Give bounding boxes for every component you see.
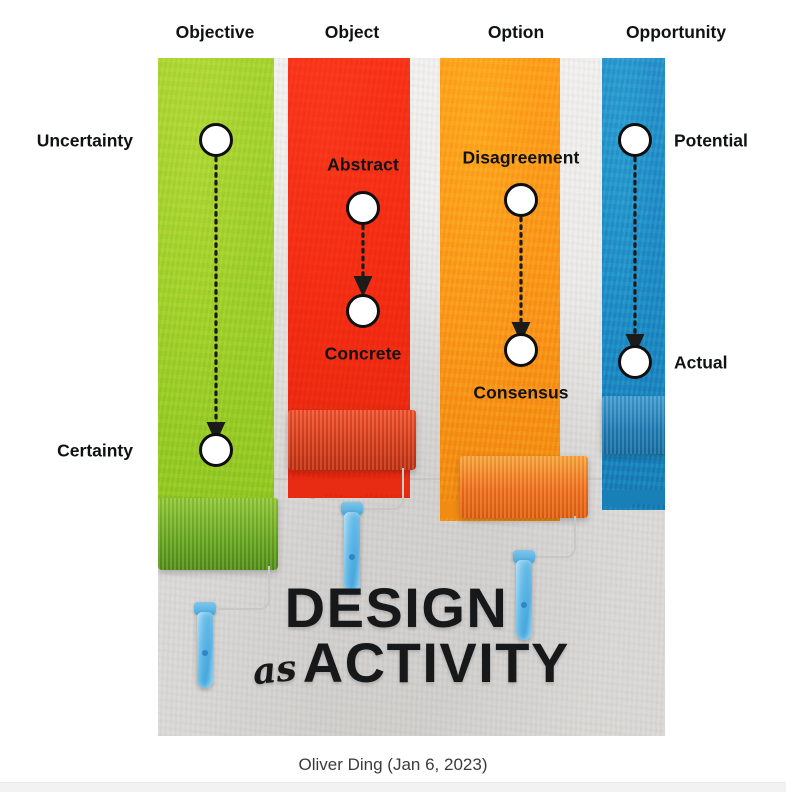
page-root: Objective Object Option Opportunity Unce…	[0, 0, 786, 792]
paint-stripe-orange	[440, 58, 560, 521]
row-label-uncertainty: Uncertainty	[37, 131, 133, 152]
poster-figure: DESIGN as ACTIVITY	[158, 58, 665, 736]
row-label-actual: Actual	[674, 353, 727, 374]
wordmark-design: DESIGN	[158, 581, 665, 635]
figure-caption: Oliver Ding (Jan 6, 2023)	[0, 755, 786, 775]
paint-edge-blue	[602, 490, 665, 516]
wordmark-activity: ACTIVITY	[303, 636, 570, 690]
column-header-objective: Objective	[176, 22, 255, 43]
wordmark-line2: as ACTIVITY	[158, 636, 665, 690]
paint-texture	[440, 58, 560, 521]
column-header-option: Option	[488, 22, 544, 43]
node-disagreement[interactable]	[504, 183, 538, 217]
roller-pad-red	[288, 410, 416, 470]
roller-pad-orange	[460, 456, 588, 518]
roller-pad-green	[158, 498, 278, 570]
wordmark-as: as	[251, 651, 298, 690]
node-potential[interactable]	[618, 123, 652, 157]
column-header-object: Object	[325, 22, 379, 43]
roller-pad-blue	[602, 396, 665, 454]
node-certainty[interactable]	[199, 433, 233, 467]
node-actual[interactable]	[618, 345, 652, 379]
node-uncertainty[interactable]	[199, 123, 233, 157]
node-concrete[interactable]	[346, 294, 380, 328]
node-abstract[interactable]	[346, 191, 380, 225]
footer-band	[0, 782, 786, 792]
row-label-potential: Potential	[674, 131, 748, 152]
poster-wordmark: DESIGN as ACTIVITY	[158, 581, 665, 691]
row-label-certainty: Certainty	[57, 441, 133, 462]
node-consensus[interactable]	[504, 333, 538, 367]
roller-handle-hole	[349, 554, 355, 560]
column-header-opportunity: Opportunity	[626, 22, 726, 43]
